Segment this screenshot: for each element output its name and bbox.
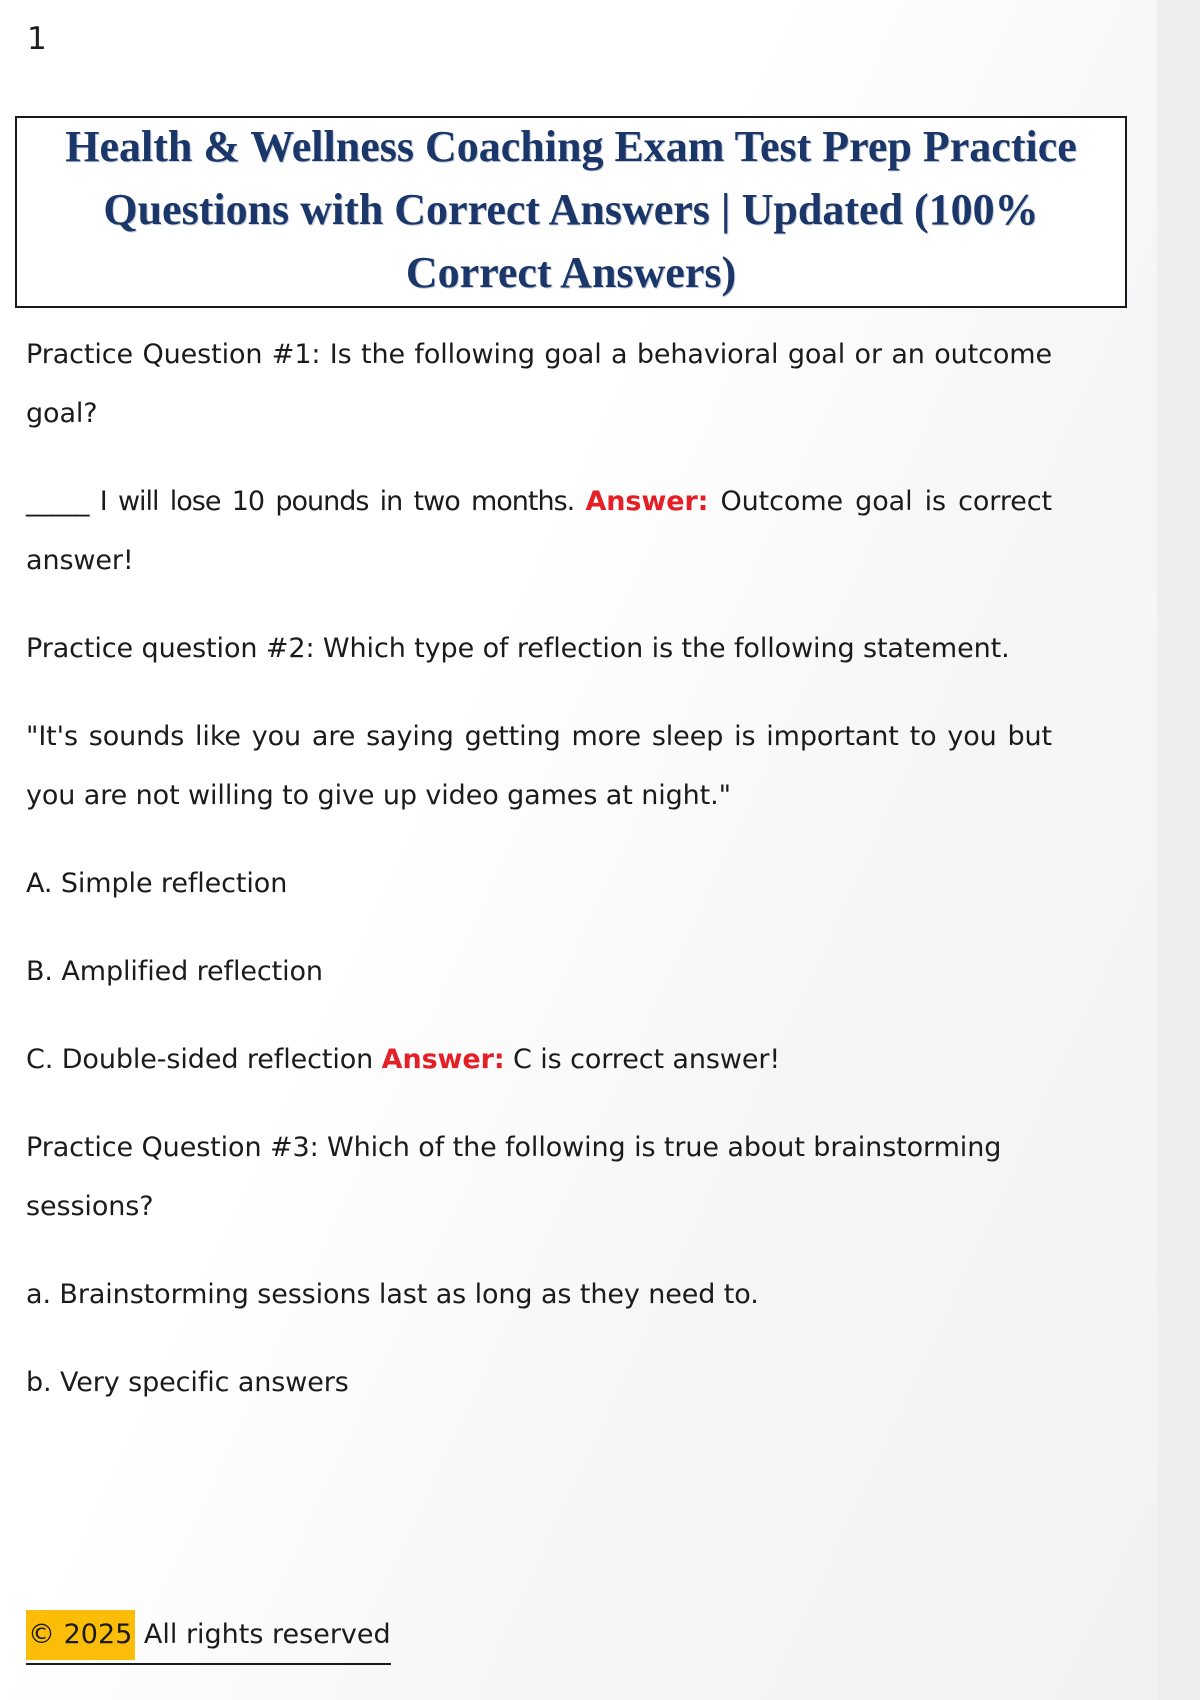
paragraph-q2-stem: Practice question #2: Which type of refl…	[26, 619, 1052, 678]
q2-option-a-text: A. Simple reflection	[26, 868, 287, 899]
paragraph-q2-quote: "It's sounds like you are saying getting…	[26, 707, 1052, 825]
q1-stem-text: Practice Question #1: Is the following g…	[26, 339, 1052, 429]
answer-label: Answer:	[382, 1044, 505, 1075]
paragraph-q1-item: _____ I will lose 10 pounds in two month…	[26, 472, 1052, 590]
copyright-underline-group: © 2025 All rights reserved	[26, 1610, 391, 1665]
paragraph-q3-stem: Practice Question #3: Which of the follo…	[26, 1118, 1052, 1236]
copyright-rights: All rights reserved	[144, 1619, 391, 1650]
q2-option-c-suffix: C is correct answer!	[505, 1044, 781, 1075]
paragraph-q3-option-a: a. Brainstorming sessions last as long a…	[26, 1265, 1052, 1324]
q3-stem-text: Practice Question #3: Which of the follo…	[26, 1132, 1001, 1222]
paragraph-q2-option-b: B. Amplified reflection	[26, 942, 1052, 1001]
q2-option-c-prefix: C. Double-sided reflection	[26, 1044, 382, 1075]
viewer-right-gutter	[1157, 0, 1200, 1700]
copyright-year-highlight: © 2025	[26, 1610, 135, 1660]
document-page-sheet: 1 Health & Wellness Coaching Exam Test P…	[0, 0, 1157, 1700]
page-number: 1	[27, 22, 47, 56]
q3-option-b-text: b. Very specific answers	[26, 1367, 349, 1398]
q2-option-b-text: B. Amplified reflection	[26, 956, 323, 987]
q1-item-prefix: _____ I will lose 10 pounds in two month…	[26, 486, 586, 517]
paragraph-q1-stem: Practice Question #1: Is the following g…	[26, 325, 1052, 443]
document-title-box: Health & Wellness Coaching Exam Test Pre…	[15, 116, 1127, 308]
copyright-footer: © 2025 All rights reserved	[26, 1610, 1026, 1665]
answer-label: Answer:	[586, 486, 709, 517]
q2-quote-text: "It's sounds like you are saying getting…	[26, 721, 1052, 811]
copyright-rights-text	[135, 1619, 144, 1650]
document-body: Practice Question #1: Is the following g…	[26, 325, 1052, 1441]
paragraph-q3-option-b: b. Very specific answers	[26, 1353, 1052, 1412]
page-title: Health & Wellness Coaching Exam Test Pre…	[35, 115, 1107, 304]
pdf-page-viewer: 1 Health & Wellness Coaching Exam Test P…	[0, 0, 1200, 1700]
paragraph-q2-option-a: A. Simple reflection	[26, 854, 1052, 913]
paragraph-q2-option-c: C. Double-sided reflection Answer: C is …	[26, 1030, 1052, 1089]
q3-option-a-text: a. Brainstorming sessions last as long a…	[26, 1279, 759, 1310]
q2-stem-text: Practice question #2: Which type of refl…	[26, 633, 1010, 664]
